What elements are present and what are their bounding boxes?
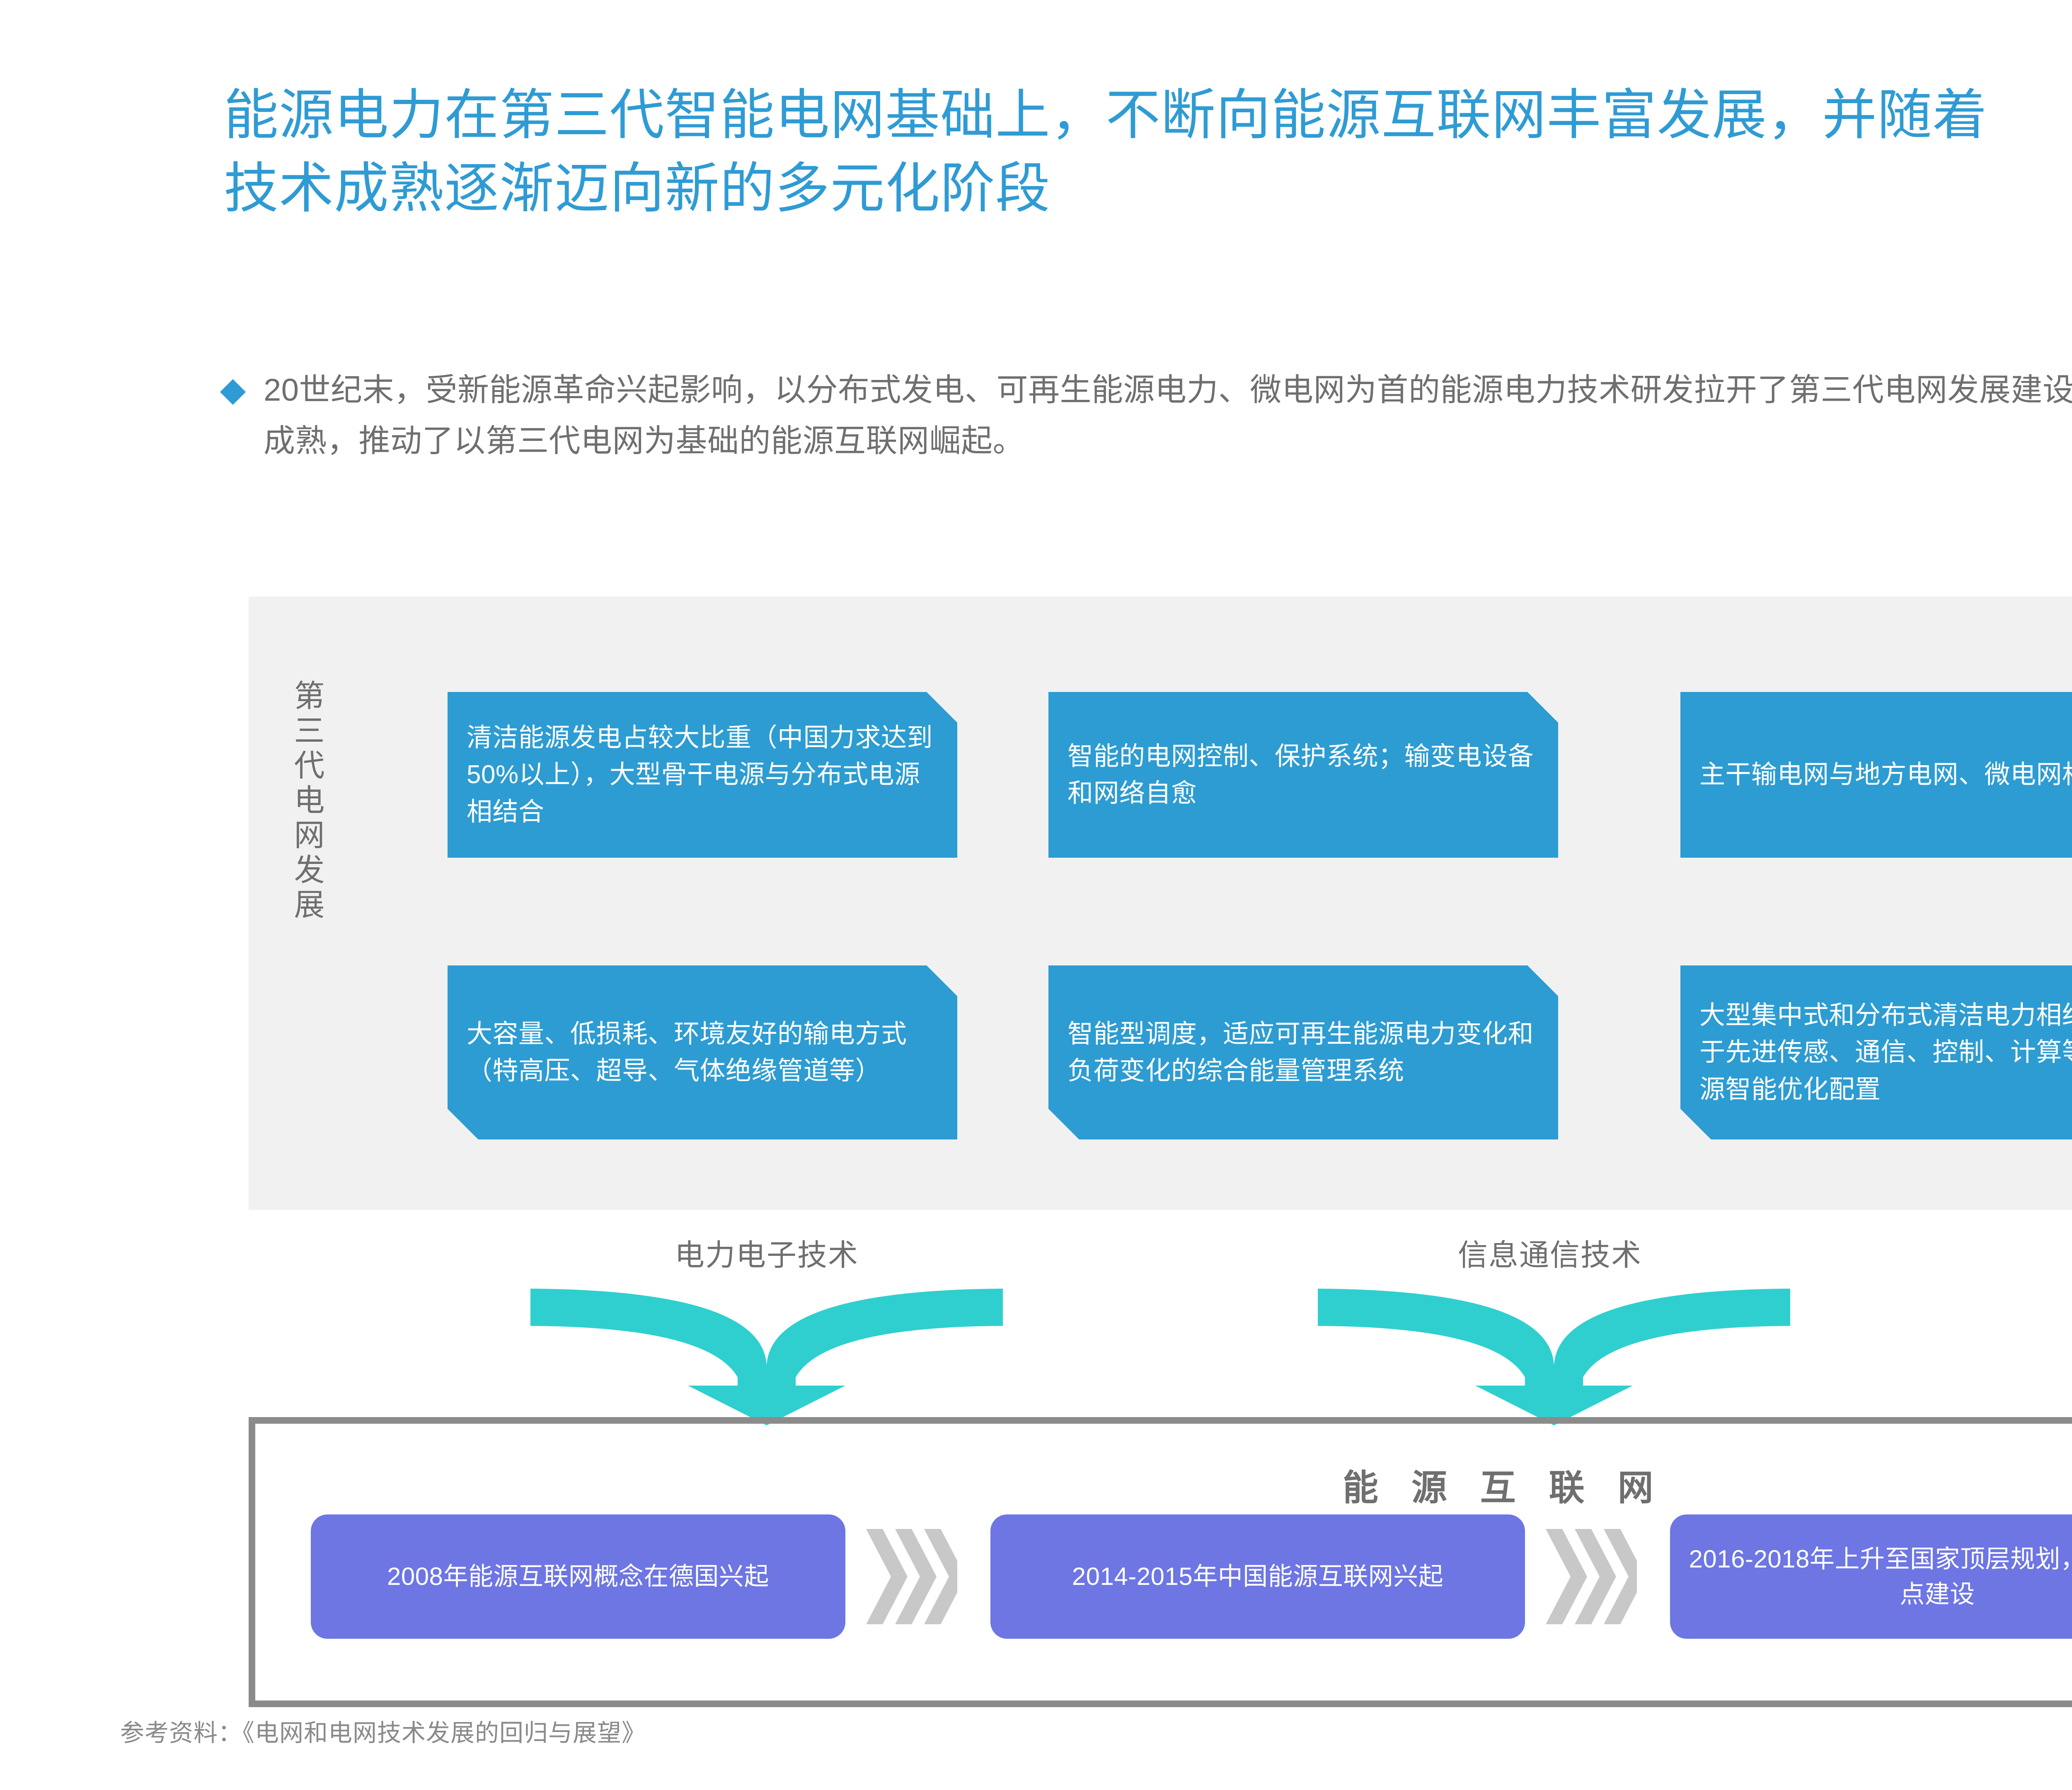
feature-card[interactable]: 主干输电网与地方电网、微电网相配合 — [1680, 692, 2072, 858]
stage-card[interactable]: 2014-2015年中国能源互联网兴起 — [990, 1514, 1525, 1639]
feature-card[interactable]: 大容量、低损耗、环境友好的输电方式（特高压、超导、气体绝缘管道等） — [448, 965, 957, 1139]
feature-card[interactable]: 大型集中式和分布式清洁电力相结合，基于先进传感、通信、控制、计算等实现资源智能优… — [1680, 965, 2072, 1139]
feature-card[interactable]: 智能的电网控制、保护系统；输变电设备和网络自愈 — [1048, 692, 1558, 858]
slide-root: 售前 之家 亿欧智库 能源电力在第三代智能电网基础上，不断向能源互联网丰富发展，… — [0, 0, 2072, 1790]
tech-label-power-electronics: 电力电子技术 — [580, 1231, 953, 1274]
chevron-separator-icon — [1542, 1529, 1637, 1626]
energy-internet-heading: 能 源 互 联 网 — [1343, 1459, 1665, 1510]
stage-card[interactable]: 2008年能源互联网概念在德国兴起 — [311, 1514, 845, 1639]
chevron-separator-icon — [862, 1529, 957, 1626]
stage-card[interactable]: 2016-2018年上升至国家顶层规划，并进入试点建设 — [1670, 1514, 2072, 1639]
tech-label-ict: 信息通信技术 — [1363, 1231, 1736, 1274]
band-left-label: 第三代电网发展 — [265, 680, 327, 923]
feature-card[interactable]: 智能型调度，适应可再生能源电力变化和负荷变化的综合能量管理系统 — [1048, 965, 1558, 1139]
feature-card[interactable]: 清洁能源发电占较大比重（中国力求达到50%以上），大型骨干电源与分布式电源相结合 — [448, 692, 957, 858]
diamond-bullet-icon — [220, 379, 246, 405]
merge-arrow-icon — [530, 1289, 1003, 1427]
summary-bullet: 20世纪末，受新能源革命兴起影响，以分布式发电、可再生能源电力、微电网为首的能源… — [224, 365, 2072, 467]
source-note: 参考资料：《电网和电网技术发展的回归与展望》 — [120, 1713, 646, 1748]
page-title: 能源电力在第三代智能电网基础上，不断向能源互联网丰富发展，并随着技术成熟逐渐迈向… — [224, 79, 2006, 225]
merge-arrow-icon — [1318, 1289, 1790, 1427]
summary-bullet-text: 20世纪末，受新能源革命兴起影响，以分布式发电、可再生能源电力、微电网为首的能源… — [264, 365, 2072, 467]
